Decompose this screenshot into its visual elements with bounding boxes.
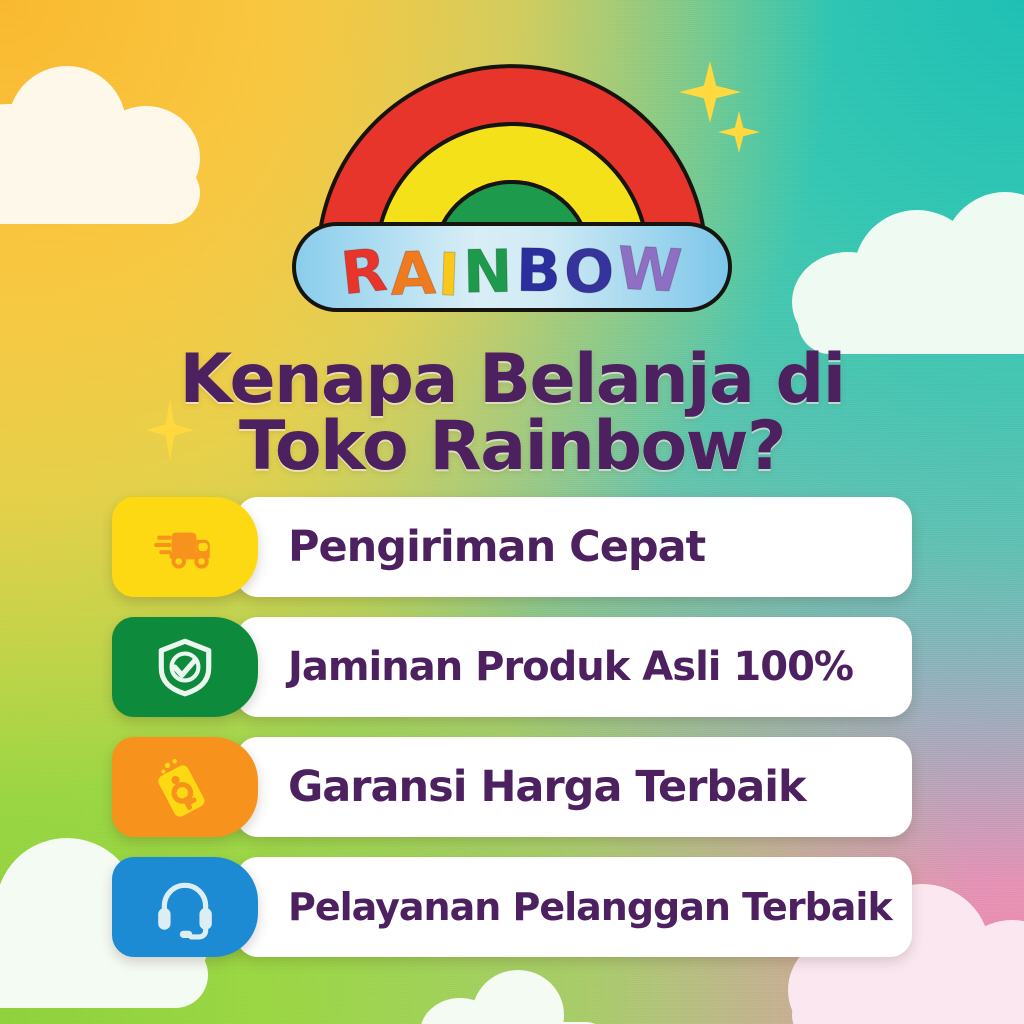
feature-icon-block-blue <box>112 857 258 957</box>
logo-letter-n: N <box>462 241 515 301</box>
delivery-truck-icon <box>152 514 218 580</box>
poster-canvas: R A I N B O W Kenapa Belanja di Toko Rai… <box>0 0 1024 1024</box>
price-tag-icon <box>152 754 218 820</box>
feature-item-jaminan-produk-asli[interactable]: Jaminan Produk Asli 100% <box>112 617 912 717</box>
logo-letter-b: B <box>514 240 563 300</box>
feature-label: Pelayanan Pelanggan Terbaik <box>258 857 912 957</box>
feature-item-pengiriman-cepat[interactable]: Pengiriman Cepat <box>112 497 912 597</box>
cloud-mid-right <box>792 186 1024 354</box>
feature-icon-block-orange <box>112 737 258 837</box>
feature-item-garansi-harga[interactable]: Garansi Harga Terbaik <box>112 737 912 837</box>
logo-letter-o: O <box>562 241 616 301</box>
feature-icon-block-yellow <box>112 497 258 597</box>
feature-list: Pengiriman Cepat Jaminan Produk Asli 100… <box>112 497 912 977</box>
cloud-top-left <box>0 58 222 223</box>
logo-letter-i: I <box>436 244 463 304</box>
headset-icon <box>152 874 218 940</box>
logo-letter-r: R <box>337 239 391 303</box>
feature-label: Garansi Harga Terbaik <box>258 737 912 837</box>
feature-icon-block-green <box>112 617 258 717</box>
logo-letter-a: A <box>388 243 439 304</box>
headline-line-2: Toko Rainbow? <box>92 413 932 480</box>
shield-check-icon <box>152 634 218 700</box>
feature-label: Pengiriman Cepat <box>258 497 912 597</box>
rainbow-logo: R A I N B O W <box>288 28 736 296</box>
logo-wordmark: R A I N B O W <box>288 231 736 309</box>
logo-letter-w: W <box>614 238 685 300</box>
page-title: Kenapa Belanja di Toko Rainbow? <box>0 346 1024 481</box>
feature-item-pelayanan-pelanggan[interactable]: Pelayanan Pelanggan Terbaik <box>112 857 912 957</box>
feature-label: Jaminan Produk Asli 100% <box>258 617 912 717</box>
